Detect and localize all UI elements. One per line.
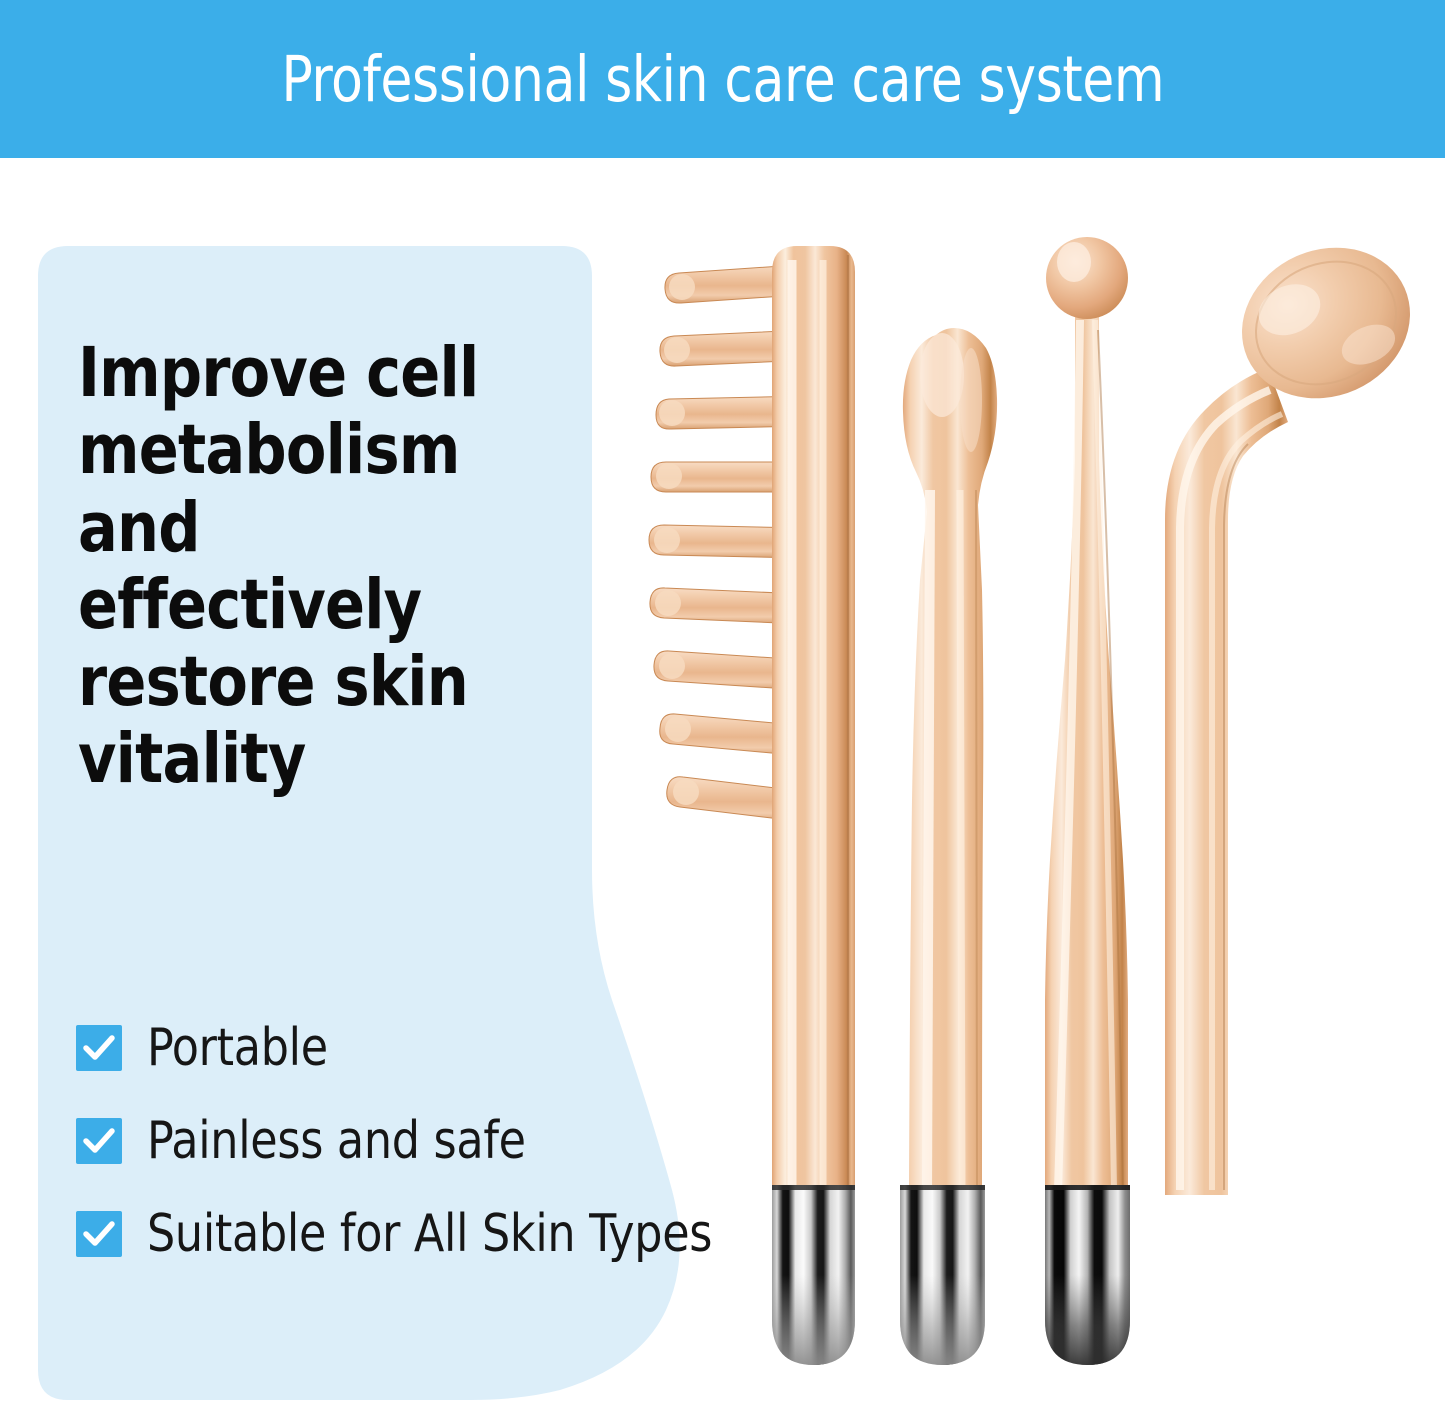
feature-label: Portable <box>147 1022 328 1074</box>
spoon-wand-metal-cap <box>900 1185 985 1367</box>
page-title: Professional skin care care system <box>281 48 1164 111</box>
product-wands-illustration <box>620 160 1445 1408</box>
feature-item-painless-and-safe: Painless and safe <box>76 1111 676 1171</box>
ball-wand-body <box>1045 280 1128 1195</box>
comb-electrode-wand <box>649 246 855 1367</box>
feature-list: Portable Painless and safe Suitable for … <box>76 1018 676 1297</box>
ball-electrode-wand <box>1045 237 1130 1367</box>
product-image-area <box>620 160 1445 1408</box>
spoon-electrode-wand <box>900 328 997 1367</box>
comb-wand-metal-cap <box>772 1185 855 1367</box>
check-icon <box>76 1211 122 1257</box>
comb-wand-body <box>772 246 855 1195</box>
mushroom-electrode-wand <box>1165 221 1434 1195</box>
headline-text: Improve cell metabolism and effectively … <box>78 335 553 799</box>
ball-wand-metal-cap <box>1045 1185 1130 1367</box>
check-icon <box>76 1118 122 1164</box>
header-banner: Professional skin care care system <box>0 0 1445 158</box>
check-icon <box>76 1025 122 1071</box>
feature-item-portable: Portable <box>76 1018 676 1078</box>
feature-item-suitable-for-all-skin-types: Suitable for All Skin Types <box>76 1204 676 1264</box>
feature-label: Painless and safe <box>147 1115 526 1167</box>
spoon-wand-body <box>903 328 997 1195</box>
